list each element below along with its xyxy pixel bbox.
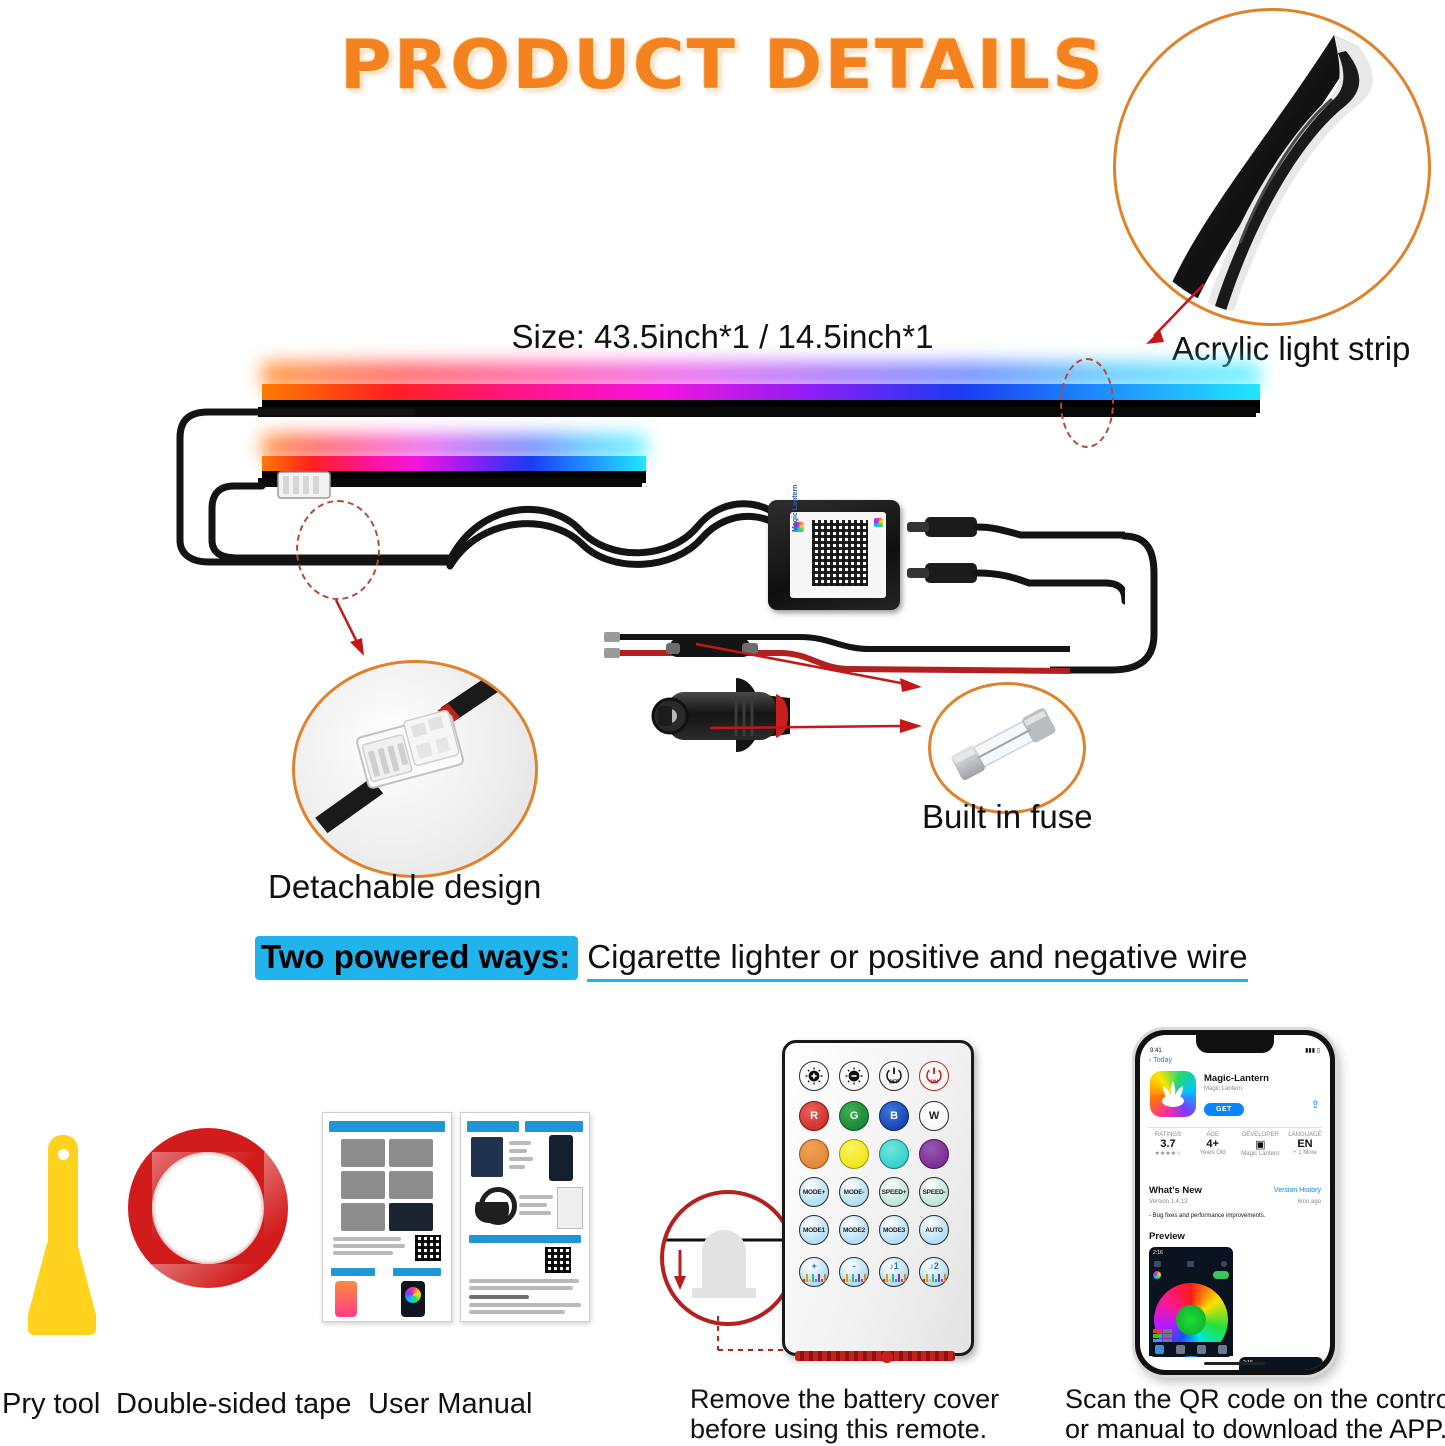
version-age: 6mo ago — [1298, 1199, 1321, 1205]
battery-cover-circle — [660, 1190, 796, 1326]
manual-qr-code-2 — [545, 1247, 571, 1273]
remote-button-color-yellow-icon[interactable] — [839, 1139, 869, 1169]
get-label: GET — [1204, 1103, 1244, 1116]
stat-language: LANGUAGE EN + 1 More — [1288, 1132, 1322, 1157]
menu-icon — [1154, 1261, 1161, 1267]
palette-icon — [1153, 1271, 1161, 1279]
status-icons: ▮▮▮ ▯ — [1305, 1039, 1320, 1057]
svg-text:ON: ON — [930, 1080, 938, 1086]
remote-button-speed-up-icon[interactable]: SPEED+ — [879, 1177, 909, 1207]
battery-tab-dot — [881, 1351, 893, 1363]
controller-label: Magic Lantern — [790, 512, 886, 598]
remote-button-brightness-down-icon[interactable] — [839, 1061, 869, 1091]
manual-qr-code-1 — [415, 1235, 441, 1261]
app-name: Magic-Lantern — [1204, 1073, 1269, 1084]
remote-button-color-green-icon[interactable]: G — [839, 1101, 869, 1131]
battery-tab-illustration — [664, 1194, 784, 1314]
remote-button-color-white-icon[interactable]: W — [919, 1101, 949, 1131]
controller-box: Magic Lantern — [768, 500, 900, 610]
edit-icon — [1187, 1261, 1194, 1267]
brand-logo-icon-2 — [874, 518, 883, 527]
remote-button-color-red-icon[interactable]: R — [799, 1101, 829, 1131]
pry-tool-illustration — [28, 1135, 96, 1335]
remote-button-auto-icon[interactable]: AUTO — [919, 1215, 949, 1245]
whats-new-heading: What's New — [1149, 1185, 1202, 1196]
manual-page-1 — [322, 1112, 452, 1322]
saved-colors[interactable] — [1153, 1329, 1172, 1343]
remote-button-mode-up-icon[interactable]: MODE+ — [799, 1177, 829, 1207]
remote-button-speed-down-icon[interactable]: SPEED- — [919, 1177, 949, 1207]
double-sided-tape-label: Double-sided tape — [116, 1388, 351, 1421]
remote-button-music-mode-2-icon[interactable]: ♪2 — [919, 1257, 949, 1287]
stat-ratings: RATINGS 3.7 ★★★★☆ — [1148, 1132, 1188, 1157]
remote-button-color-cyan-icon[interactable] — [879, 1139, 909, 1169]
connector-highlight-ellipse — [296, 500, 380, 600]
user-manual-label: User Manual — [368, 1388, 532, 1421]
remote-button-eq-plus-icon[interactable]: + — [799, 1257, 829, 1287]
remote-button-color-orange-icon[interactable] — [799, 1139, 829, 1169]
battery-tab-strip — [795, 1351, 955, 1361]
pry-tool-label: Pry tool — [2, 1388, 100, 1421]
detachable-design-label: Detachable design — [268, 868, 541, 906]
phone-mockup: 9:41 ▮▮▮ ▯ ‹ Today Magic-Lantern Magic — [1135, 1030, 1335, 1375]
version-number: Version 1.4.13 — [1149, 1199, 1187, 1205]
home-indicator — [1204, 1362, 1266, 1365]
remote-button-power-on-icon[interactable]: ON — [919, 1061, 949, 1091]
remote-button-color-blue-icon[interactable]: B — [879, 1101, 909, 1131]
phone-screen: 9:41 ▮▮▮ ▯ ‹ Today Magic-Lantern Magic — [1140, 1035, 1330, 1370]
back-label: Today — [1153, 1057, 1172, 1064]
two-powered-ways-banner: Two powered ways:Cigarette lighter or po… — [255, 936, 1255, 982]
lotus-icon — [1150, 1071, 1196, 1117]
app-developer: Magic Lantern — [1204, 1086, 1242, 1092]
release-note: - Bug fixes and performance improvements… — [1149, 1213, 1265, 1219]
remote-button-music-mode-1-icon[interactable]: ♪1 — [879, 1257, 909, 1287]
fuse-closeup-circle — [928, 682, 1086, 814]
controller-brand-text: Magic Lantern — [792, 485, 799, 532]
power-toggle[interactable] — [1213, 1271, 1229, 1279]
remote-button-mode-down-icon[interactable]: MODE- — [839, 1177, 869, 1207]
remote-button-eq-minus-icon[interactable]: - — [839, 1257, 869, 1287]
app-stats-row: RATINGS 3.7 ★★★★☆ AGE 4+ Years Old DEVEL… — [1148, 1127, 1322, 1157]
fuse-arrows-icon — [690, 630, 940, 760]
bulb-icon — [1221, 1261, 1227, 1267]
svg-text:OFF: OFF — [889, 1080, 900, 1086]
remote-button-power-off-icon[interactable]: OFF — [879, 1061, 909, 1091]
phone-notch — [1196, 1035, 1274, 1053]
remote-caption-line1: Remove the battery cover — [690, 1384, 999, 1416]
get-button[interactable]: GET — [1204, 1098, 1244, 1116]
stat-developer: DEVELOPER ▣ Magic Lantern — [1237, 1132, 1283, 1157]
preview-heading: Preview — [1149, 1231, 1185, 1242]
powered-ways-highlight: Two powered ways: — [255, 936, 578, 980]
remote-button-mode3-icon[interactable]: MODE3 — [879, 1215, 909, 1245]
tab-scene[interactable] — [1176, 1345, 1185, 1354]
detachable-arrow-icon — [322, 596, 382, 662]
remote-button-mode2-icon[interactable]: MODE2 — [839, 1215, 869, 1245]
status-time: 9:41 — [1150, 1039, 1162, 1057]
size-text: Size: 43.5inch*1 / 14.5inch*1 — [0, 318, 1445, 356]
version-history-link[interactable]: Version History — [1274, 1187, 1321, 1194]
qr-code — [812, 520, 868, 586]
built-in-fuse-label: Built in fuse — [922, 798, 1093, 836]
tab-light[interactable] — [1155, 1345, 1164, 1354]
app-tab-bar[interactable] — [1149, 1342, 1233, 1356]
tab-search[interactable] — [1218, 1345, 1227, 1354]
remote-caption-line2: before using this remote. — [690, 1414, 987, 1446]
remote-button-color-purple-icon[interactable] — [919, 1139, 949, 1169]
detachable-closeup-circle — [292, 660, 538, 878]
double-sided-tape-illustration — [128, 1128, 288, 1288]
app-caption-line2: or manual to download the APP. — [1065, 1414, 1445, 1446]
jst-connector-illustration — [295, 663, 529, 869]
app-icon — [1150, 1071, 1196, 1117]
jst-connector — [278, 472, 330, 498]
acrylic-strip-illustration — [1116, 11, 1422, 317]
remote-button-brightness-up-icon[interactable] — [799, 1061, 829, 1091]
back-to-today-link[interactable]: ‹ Today — [1149, 1057, 1172, 1064]
app-caption-line1: Scan the QR code on the controller — [1065, 1384, 1445, 1416]
share-icon[interactable]: ⇪ — [1311, 1098, 1320, 1111]
tab-music[interactable] — [1197, 1345, 1206, 1354]
remote-control[interactable]: OFFONRGBWMODE+MODE-SPEED+SPEED-MODE1MODE… — [782, 1040, 974, 1356]
glass-fuse-illustration — [931, 685, 1077, 805]
preview-screenshot-1[interactable]: 2:16 — [1149, 1247, 1233, 1357]
remote-button-mode1-icon[interactable]: MODE1 — [799, 1215, 829, 1245]
manual-page-2 — [460, 1112, 590, 1322]
powered-ways-text: Cigarette lighter or positive and negati… — [587, 938, 1247, 982]
stat-age: AGE 4+ Years Old — [1193, 1132, 1233, 1157]
